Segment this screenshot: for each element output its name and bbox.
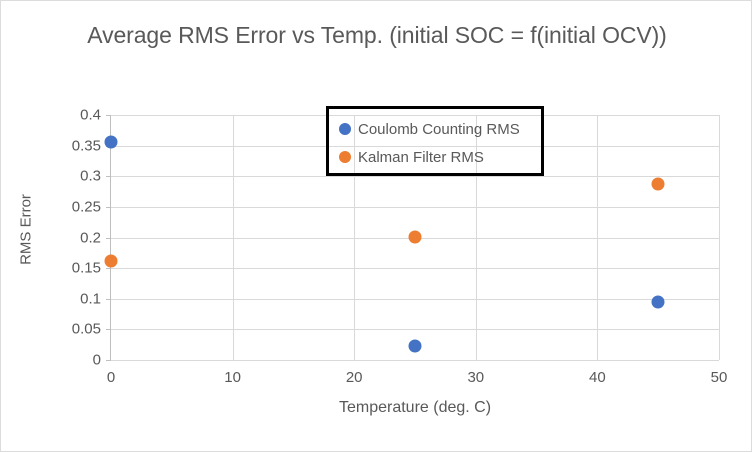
gridline-horizontal xyxy=(111,329,719,330)
x-axis-tick-label: 10 xyxy=(203,369,263,386)
data-point[interactable] xyxy=(105,135,118,148)
y-axis-title: RMS Error xyxy=(18,180,35,280)
y-axis-tick-mark xyxy=(106,176,111,177)
data-point[interactable] xyxy=(105,255,118,268)
legend-marker-icon xyxy=(339,123,351,135)
y-axis-tick-label: 0.2 xyxy=(41,229,101,246)
y-axis-tick-labels: 00.050.10.150.20.250.30.350.4 xyxy=(39,115,101,360)
legend-label: Coulomb Counting RMS xyxy=(358,121,520,138)
gridline-horizontal xyxy=(111,268,719,269)
gridline-horizontal xyxy=(111,176,719,177)
gridline-vertical xyxy=(597,115,598,360)
data-point[interactable] xyxy=(652,296,665,309)
x-axis-title: Temperature (deg. C) xyxy=(111,399,719,417)
y-axis-tick-label: 0.25 xyxy=(41,198,101,215)
x-axis-tick-label: 50 xyxy=(689,369,749,386)
x-axis-tick-labels: 01020304050 xyxy=(111,369,719,391)
legend-label: Kalman Filter RMS xyxy=(358,149,484,166)
y-axis-tick-label: 0 xyxy=(41,352,101,369)
y-axis-tick-label: 0.05 xyxy=(41,321,101,338)
y-axis-tick-label: 0.4 xyxy=(41,107,101,124)
chart-legend: Coulomb Counting RMSKalman Filter RMS xyxy=(326,106,544,176)
y-axis-tick-mark xyxy=(106,360,111,361)
gridline-horizontal xyxy=(111,207,719,208)
chart-title-line-2: OCV)) xyxy=(602,22,667,48)
gridline-vertical xyxy=(233,115,234,360)
x-axis-tick-label: 20 xyxy=(324,369,384,386)
data-point[interactable] xyxy=(409,230,422,243)
chart-title-line-1: Average RMS Error vs Temp. (initial SOC … xyxy=(87,22,596,48)
chart-container: Average RMS Error vs Temp. (initial SOC … xyxy=(0,0,752,452)
y-axis-tick-label: 0.35 xyxy=(41,137,101,154)
y-axis-tick-mark xyxy=(106,207,111,208)
y-axis-tick-label: 0.3 xyxy=(41,168,101,185)
x-axis-tick-label: 40 xyxy=(567,369,627,386)
y-axis-tick-mark xyxy=(106,115,111,116)
legend-entry[interactable]: Kalman Filter RMS xyxy=(339,143,541,171)
y-axis-tick-mark xyxy=(106,329,111,330)
gridline-horizontal xyxy=(111,360,719,361)
y-axis-tick-label: 0.15 xyxy=(41,260,101,277)
data-point[interactable] xyxy=(652,178,665,191)
chart-title: Average RMS Error vs Temp. (initial SOC … xyxy=(77,19,677,52)
y-axis-tick-mark xyxy=(106,299,111,300)
y-axis-tick-label: 0.1 xyxy=(41,290,101,307)
x-axis-tick-label: 30 xyxy=(446,369,506,386)
y-axis-tick-mark xyxy=(106,238,111,239)
legend-entry[interactable]: Coulomb Counting RMS xyxy=(339,115,541,143)
gridline-horizontal xyxy=(111,299,719,300)
x-axis-tick-label: 0 xyxy=(81,369,141,386)
y-axis-tick-mark xyxy=(106,268,111,269)
legend-marker-icon xyxy=(339,151,351,163)
data-point[interactable] xyxy=(409,339,422,352)
gridline-vertical xyxy=(719,115,720,360)
